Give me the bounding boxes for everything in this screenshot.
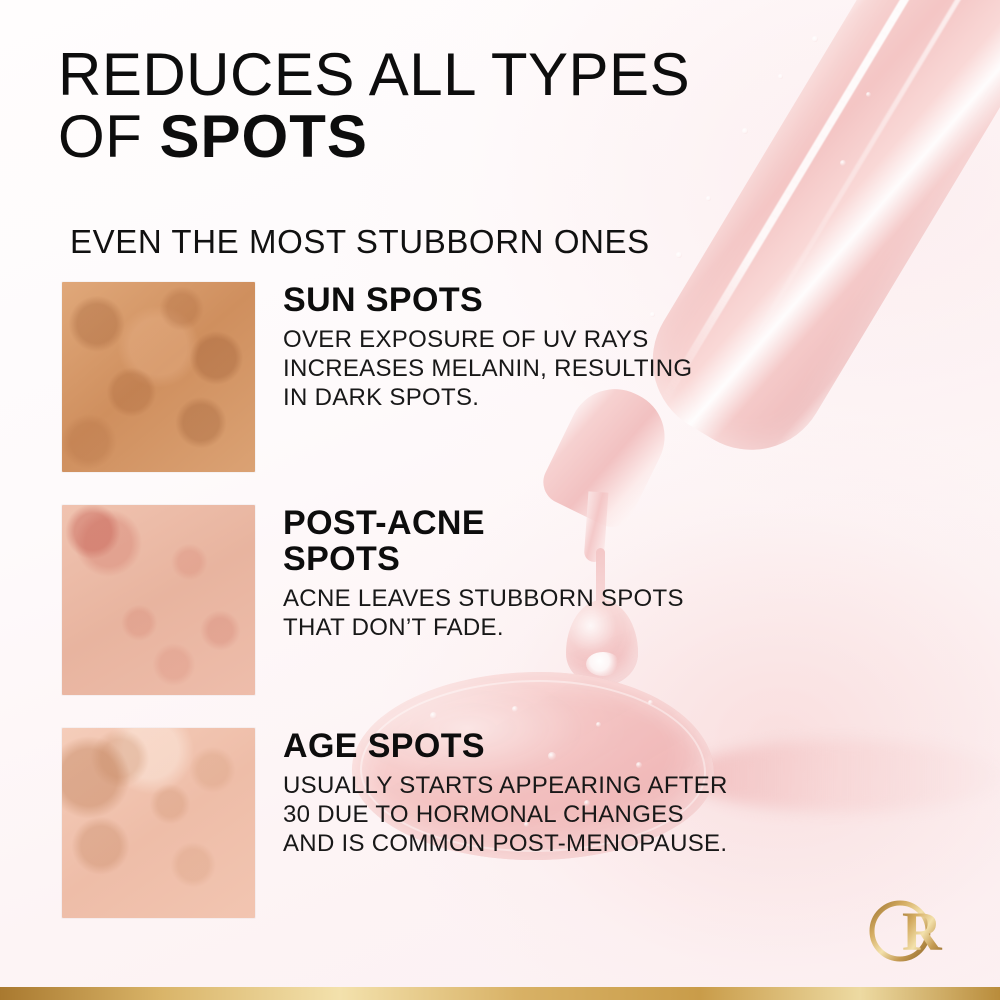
brand-logo: R bbox=[862, 898, 950, 964]
list-item: POST-ACNE SPOTS ACNE LEAVES STUBBORN SPO… bbox=[0, 505, 1000, 728]
pipette-bubble-icon bbox=[676, 252, 682, 258]
age-spots-skin-swatch bbox=[62, 728, 255, 918]
list-item: AGE SPOTS USUALLY STARTS APPEARING AFTER… bbox=[0, 728, 1000, 951]
pipette-bubble-icon bbox=[866, 92, 871, 97]
logo-letter: R bbox=[902, 901, 943, 962]
post-acne-spots-copy: POST-ACNE SPOTS ACNE LEAVES STUBBORN SPO… bbox=[283, 505, 753, 642]
post-acne-spots-skin-swatch bbox=[62, 505, 255, 695]
pipette-bubble-icon bbox=[706, 196, 711, 201]
sun-spots-title: SUN SPOTS bbox=[283, 282, 753, 318]
infographic-canvas: REDUCES ALL TYPES OF SPOTS EVEN THE MOST… bbox=[0, 0, 1000, 1000]
page-subheading: EVEN THE MOST STUBBORN ONES bbox=[70, 223, 650, 261]
age-spots-title: AGE SPOTS bbox=[283, 728, 753, 764]
sun-spots-description: OVER EXPOSURE OF UV RAYS INCREASES MELAN… bbox=[283, 325, 753, 412]
list-item: SUN SPOTS OVER EXPOSURE OF UV RAYS INCRE… bbox=[0, 282, 1000, 505]
pipette-bubble-icon bbox=[812, 36, 818, 42]
post-acne-spots-description: ACNE LEAVES STUBBORN SPOTS THAT DON’T FA… bbox=[283, 584, 753, 642]
gold-accent-band bbox=[0, 987, 1000, 1000]
sun-spots-skin-swatch bbox=[62, 282, 255, 472]
headline-line-2-prefix: OF bbox=[58, 103, 160, 170]
post-acne-spots-title: POST-ACNE SPOTS bbox=[283, 505, 753, 577]
headline-line-2-emphasis: SPOTS bbox=[160, 103, 368, 170]
age-spots-description: USUALLY STARTS APPEARING AFTER 30 DUE TO… bbox=[283, 771, 753, 858]
headline-line-1: REDUCES ALL TYPES bbox=[58, 41, 690, 108]
spot-types-list: SUN SPOTS OVER EXPOSURE OF UV RAYS INCRE… bbox=[0, 282, 1000, 951]
page-headline: REDUCES ALL TYPES OF SPOTS bbox=[58, 44, 798, 168]
pipette-bubble-icon bbox=[840, 160, 846, 166]
age-spots-copy: AGE SPOTS USUALLY STARTS APPEARING AFTER… bbox=[283, 728, 753, 858]
sun-spots-copy: SUN SPOTS OVER EXPOSURE OF UV RAYS INCRE… bbox=[283, 282, 753, 412]
